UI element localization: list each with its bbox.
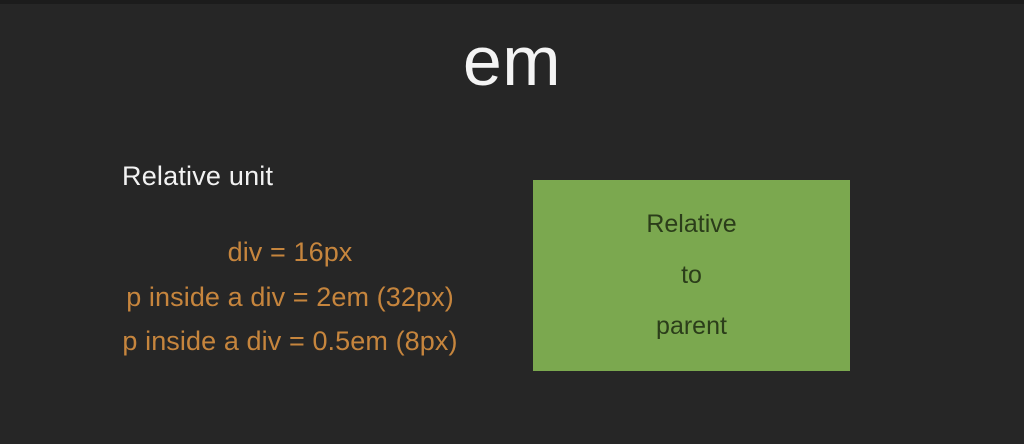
code-line-2: p inside a div = 2em (32px) [60, 275, 520, 320]
green-parent-box: Relative to parent [533, 180, 850, 371]
left-content-column: Relative unit div = 16px p inside a div … [60, 160, 520, 364]
green-box-line-1: Relative [646, 212, 736, 237]
code-line-3: p inside a div = 0.5em (8px) [60, 319, 520, 364]
subtitle-relative-unit: Relative unit [60, 160, 520, 192]
page-title: em [0, 26, 1024, 96]
code-example-list: div = 16px p inside a div = 2em (32px) p… [60, 230, 520, 364]
top-edge-strip [0, 0, 1024, 4]
code-line-1: div = 16px [60, 230, 520, 275]
slide-canvas: em Relative unit div = 16px p inside a d… [0, 0, 1024, 444]
green-box-line-3: parent [656, 314, 727, 339]
green-box-line-2: to [681, 263, 702, 288]
